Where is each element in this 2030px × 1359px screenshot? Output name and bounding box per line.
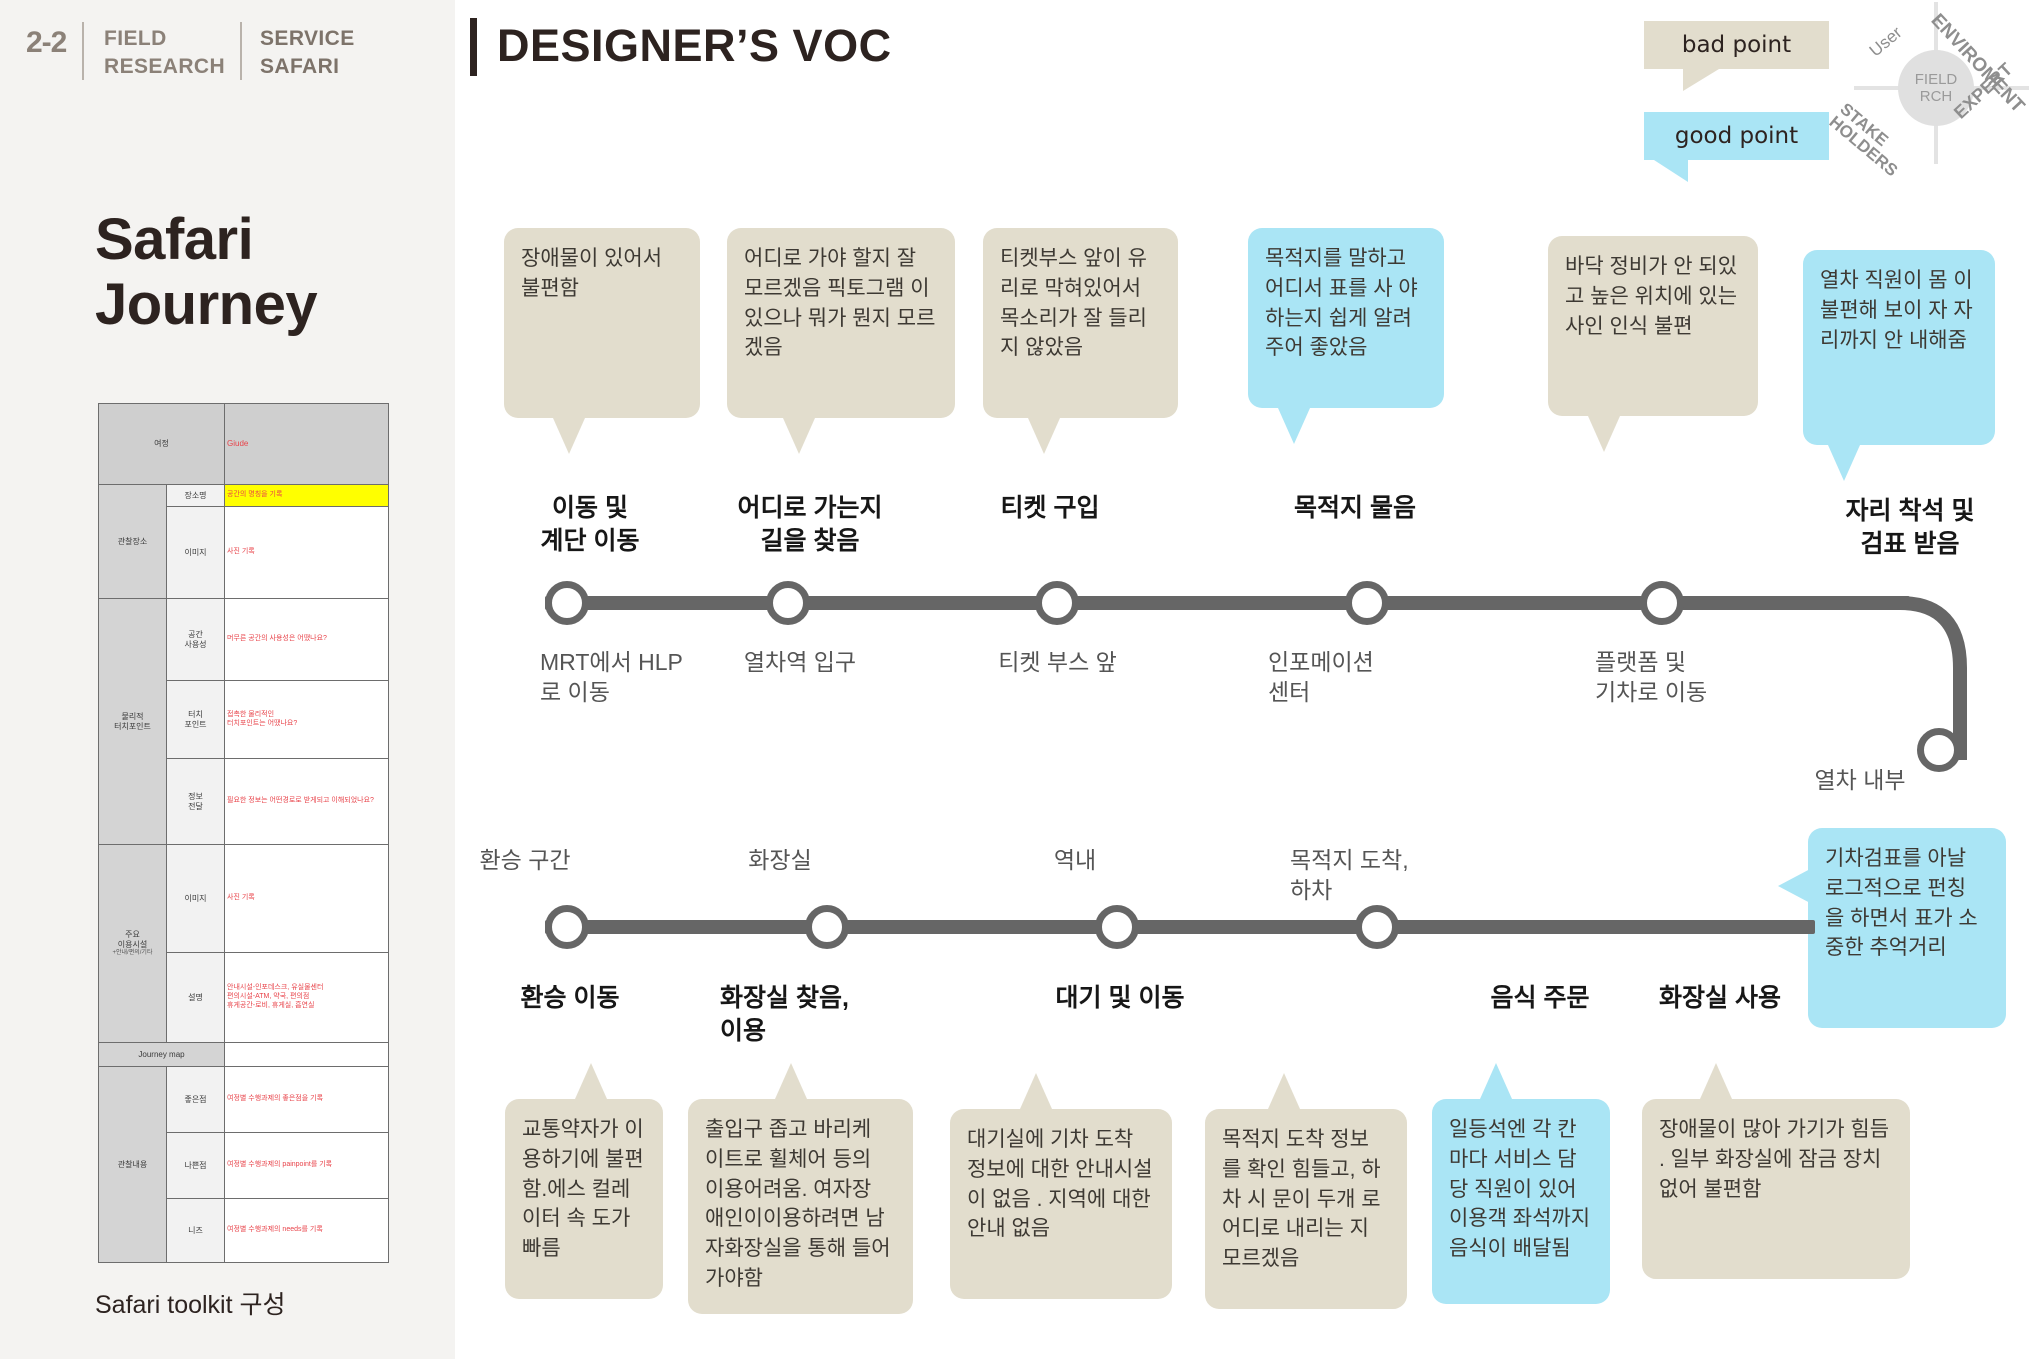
page-title: Safari Journey xyxy=(95,208,435,338)
journey-node-5[interactable] xyxy=(1640,581,1684,625)
table-guide-cell: 사진 기록 xyxy=(225,845,389,953)
voc-bubble-text: 기차검표를 아날 로그적으로 펀칭 을 하면서 표가 소중한 추억거리 xyxy=(1825,847,1978,959)
table-sub-cell: 설명 xyxy=(167,953,225,1043)
header-column-service-safari: SERVICE SAFARI xyxy=(260,25,355,80)
voc-bubble-row1-5: 바닥 정비가 안 되있 고 높은 위치에 있는 사인 인식 불편 xyxy=(1548,236,1758,416)
journey-map-label: Journey map xyxy=(99,1043,225,1067)
diagram-label-user: User xyxy=(1866,23,1906,61)
journey-node-row2-3[interactable] xyxy=(1095,905,1139,949)
voc-bubble-row2-3: 대기실에 기차 도착 정보에 대한 안내시설 이 없음 . 지역에 대한 안내 … xyxy=(950,1109,1172,1299)
table-header-guide: Giude xyxy=(225,404,389,485)
field-research-diagram: FIELD RCH User ENVIROMENT STAKE HOLDERS … xyxy=(1840,0,2030,165)
toolkit-caption: Safari toolkit 구성 xyxy=(95,1285,425,1321)
journey-node-3[interactable] xyxy=(1035,581,1079,625)
voc-bubble-row1-3: 티켓부스 앞이 유 리로 막혀있어서 목소리가 잘 들리 지 않았음 xyxy=(983,228,1178,418)
voc-bubble-row2-5-tail xyxy=(1480,1063,1512,1099)
journey-place-4: 인포메이션 센터 xyxy=(1268,648,1468,708)
table-group-cell: 주요 이용시설 +안내/편의/기타 xyxy=(99,845,167,1043)
table-guide-cell: 안내시설-인포데스크, 유실물센터 편의시설-ATM, 약국, 편의점 휴게공간… xyxy=(225,953,389,1043)
voc-bubble-row1-6: 열차 직원이 몸 이 불편해 보이 자 자리까지 안 내해줌 xyxy=(1803,250,1995,445)
voc-bubble-text: 일등석엔 각 칸 마다 서비스 담 당 직원이 있어 이용객 좌석까지 음식이 … xyxy=(1449,1118,1590,1260)
table-group-cell: 관찰내용 xyxy=(99,1067,167,1263)
table-guide-cell: 사진 기록 xyxy=(225,507,389,599)
journey-place-row2-3: 역내 xyxy=(985,846,1165,876)
table-sub-cell: 이미지 xyxy=(167,507,225,599)
journey-step-title-row2-2: 화장실 찾음, 이용 xyxy=(720,982,940,1047)
voc-bubble-row2-2-tail xyxy=(775,1063,807,1099)
table-sub-cell: 공간 사용성 xyxy=(167,599,225,681)
journey-place-row2-1: 환승 구간 xyxy=(410,846,640,876)
journey-place-6: 열차 내부 xyxy=(1760,766,1960,796)
journey-node-row2-4[interactable] xyxy=(1355,905,1399,949)
journey-node-row2-2[interactable] xyxy=(805,905,849,949)
journey-place-row2-4: 목적지 도착, 하차 xyxy=(1290,846,1510,906)
voc-bubble-row1-2-tail xyxy=(783,418,815,454)
journey-step-title-2: 어디로 가는지 길을 찾음 xyxy=(690,492,930,557)
table-guide-cell: 접촉한 물리적인 터치포인트는 어땠나요? xyxy=(225,681,389,759)
page-title-line1: Safari xyxy=(95,208,435,273)
table-header-row: 여정 Giude xyxy=(99,404,389,485)
table-sub-cell: 장소명 xyxy=(167,485,225,507)
table-sub-cell: 좋은점 xyxy=(167,1067,225,1133)
journey-step-title-row2-3: 대기 및 이동 xyxy=(1010,982,1230,1015)
table-row: 주요 이용시설 +안내/편의/기타 이미지 사진 기록 xyxy=(99,845,389,953)
table-sub-cell: 정보 전달 xyxy=(167,759,225,845)
voc-bubble-row2-6: 장애물이 많아 가기가 힘듬 . 일부 화장실에 잠금 장치 없어 불편함 xyxy=(1642,1099,1910,1279)
voc-bubble-text: 출입구 좁고 바리케 이트로 휠체어 등의 이용어려움. 여자장 애인이이용하려… xyxy=(705,1118,891,1290)
table-guide-cell: 여정별 수행과제의 painpoint를 기록 xyxy=(225,1133,389,1199)
table-sub-cell: 터치 포인트 xyxy=(167,681,225,759)
section-number: 2-2 xyxy=(26,26,66,60)
journey-step-title-3: 티켓 구입 xyxy=(955,492,1145,525)
legend-bad-point: bad point xyxy=(1644,21,1829,69)
journey-map-guide xyxy=(225,1043,389,1067)
journey-step-title-row2-1: 환승 이동 xyxy=(460,982,680,1015)
header-column-field-research: FIELD RESEARCH xyxy=(104,25,225,80)
journey-track-row2 xyxy=(545,920,1815,934)
diagram-center-line1: FIELD xyxy=(1915,71,1958,88)
table-guide-cell: 공간의 명칭을 기록 xyxy=(225,485,389,507)
voc-bubble-row1-6-tail xyxy=(1828,445,1860,481)
journey-place-3: 티켓 부스 앞 xyxy=(960,648,1155,678)
table-guide-cell: 머무른 공간의 사용성은 어땠나요? xyxy=(225,599,389,681)
journey-step-title-1: 이동 및 계단 이동 xyxy=(480,492,700,557)
voc-bubble-row1-1-tail xyxy=(553,418,585,454)
journey-node-4[interactable] xyxy=(1345,581,1389,625)
voc-bubble-text: 장애물이 많아 가기가 힘듬 . 일부 화장실에 잠금 장치 없어 불편함 xyxy=(1659,1118,1889,1201)
table-group-label: 주요 이용시설 xyxy=(118,930,147,949)
voc-bubble-text: 바닥 정비가 안 되있 고 높은 위치에 있는 사인 인식 불편 xyxy=(1565,255,1737,338)
left-sidebar: 2-2 FIELD RESEARCH SERVICE SAFARI Safari… xyxy=(0,0,455,1359)
table-sub-cell: 이미지 xyxy=(167,845,225,953)
table-guide-cell: 여정별 수행과제의 좋은점을 기록 xyxy=(225,1067,389,1133)
voc-bubble-row2-2: 출입구 좁고 바리케 이트로 휠체어 등의 이용어려움. 여자장 애인이이용하려… xyxy=(688,1099,913,1314)
journey-place-2: 열차역 입구 xyxy=(700,648,900,678)
journey-step-title-row2-6: 화장실 사용 xyxy=(1610,982,1830,1015)
table-row: 물리적 터치포인트 공간 사용성 머무른 공간의 사용성은 어땠나요? xyxy=(99,599,389,681)
journey-node-1[interactable] xyxy=(545,581,589,625)
table-row: 관찰내용 좋은점 여정별 수행과제의 좋은점을 기록 xyxy=(99,1067,389,1133)
journey-place-5: 플랫폼 및 기차로 이동 xyxy=(1595,648,1795,708)
voc-bubble-text: 열차 직원이 몸 이 불편해 보이 자 자리까지 안 내해줌 xyxy=(1820,269,1973,352)
journey-node-row2-1[interactable] xyxy=(545,905,589,949)
safari-toolkit-table: 여정 Giude 관찰장소 장소명 공간의 명칭을 기록 이미지 사진 기록 물… xyxy=(98,403,389,1263)
table-header-journey: 여정 xyxy=(99,404,225,485)
header-service-line2: SAFARI xyxy=(260,53,355,81)
diagram-center-line2: RCH xyxy=(1920,88,1953,105)
voc-bubble-row2-4-tail xyxy=(1268,1073,1300,1109)
voc-bubble-row2-5: 일등석엔 각 칸 마다 서비스 담 당 직원이 있어 이용객 좌석까지 음식이 … xyxy=(1432,1099,1610,1304)
voc-bubble-train-interior: 기차검표를 아날 로그적으로 펀칭 을 하면서 표가 소중한 추억거리 xyxy=(1808,828,2006,1028)
legend-good-point: good point xyxy=(1644,112,1829,160)
journey-track-row1 xyxy=(545,596,1910,610)
journey-place-1: MRT에서 HLP 로 이동 xyxy=(480,648,710,708)
voc-bubble-text: 교통약자가 이용하기에 불편함.에스 컬레이터 속 도가 빠름 xyxy=(522,1118,644,1260)
table-row-journey-map: Journey map xyxy=(99,1043,389,1067)
journey-step-title-6: 자리 착석 및 검표 받음 xyxy=(1800,495,2020,560)
table-group-sublabel: +안내/편의/기타 xyxy=(101,950,164,958)
voc-bubble-row2-6-tail xyxy=(1700,1063,1732,1099)
voc-bubble-text: 대기실에 기차 도착 정보에 대한 안내시설 이 없음 . 지역에 대한 안내 … xyxy=(967,1128,1153,1240)
header-service-line1: SERVICE xyxy=(260,25,355,53)
table-sub-cell: 니즈 xyxy=(167,1199,225,1263)
legend-bad-point-tail xyxy=(1683,69,1719,91)
voc-bubble-row1-4-tail xyxy=(1278,408,1310,444)
legend-bad-point-label: bad point xyxy=(1682,32,1791,58)
header-field-line1: FIELD xyxy=(104,25,225,53)
header-divider-2 xyxy=(240,22,242,80)
voc-bubble-row2-1: 교통약자가 이용하기에 불편함.에스 컬레이터 속 도가 빠름 xyxy=(505,1099,663,1299)
header-divider-1 xyxy=(82,22,84,80)
voc-bubble-text: 어디로 가야 할지 잘 모르겠음 픽토그램 이 있으나 뭐가 뭔지 모르겠음 xyxy=(744,247,935,359)
vertical-rule xyxy=(455,0,460,1359)
table-guide-cell: 여정별 수행과제의 needs를 기록 xyxy=(225,1199,389,1263)
table-guide-cell: 필요한 정보는 어떤경로로 받게되고 이해되었나요? xyxy=(225,759,389,845)
title-divider xyxy=(470,18,477,76)
journey-step-title-4: 목적지 물음 xyxy=(1255,492,1455,525)
voc-bubble-row2-3-tail xyxy=(1020,1073,1052,1109)
header-field-line2: RESEARCH xyxy=(104,53,225,81)
voc-bubble-train-interior-tail xyxy=(1778,868,1812,904)
diagram-label-stakeholders: STAKE HOLDERS xyxy=(1826,100,1912,179)
voc-bubble-row1-4: 목적지를 말하고 어디서 표를 사 야 하는지 쉽게 알려주어 좋았음 xyxy=(1248,228,1444,408)
legend-good-point-tail xyxy=(1654,160,1688,182)
table-sub-cell: 나쁜점 xyxy=(167,1133,225,1199)
voc-bubble-text: 티켓부스 앞이 유 리로 막혀있어서 목소리가 잘 들리 지 않았음 xyxy=(1000,247,1147,359)
voc-bubble-text: 장애물이 있어서 불편함 xyxy=(521,247,662,300)
slide-title: DESIGNER’S VOC xyxy=(497,20,892,72)
voc-bubble-row1-5-tail xyxy=(1588,416,1620,452)
legend-good-point-label: good point xyxy=(1675,123,1798,149)
voc-bubble-text: 목적지 도착 정보 를 확인 힘들고, 하차 시 문이 두개 로 어디로 내리는… xyxy=(1222,1128,1381,1270)
section-header: 2-2 FIELD RESEARCH SERVICE SAFARI xyxy=(0,0,455,105)
page-title-line2: Journey xyxy=(95,273,435,338)
voc-bubble-row1-1: 장애물이 있어서 불편함 xyxy=(504,228,700,418)
voc-bubble-row2-4: 목적지 도착 정보 를 확인 힘들고, 하차 시 문이 두개 로 어디로 내리는… xyxy=(1205,1109,1407,1309)
journey-node-2[interactable] xyxy=(766,581,810,625)
table-group-cell: 물리적 터치포인트 xyxy=(99,599,167,845)
voc-bubble-text: 목적지를 말하고 어디서 표를 사 야 하는지 쉽게 알려주어 좋았음 xyxy=(1265,247,1418,359)
voc-bubble-row1-3-tail xyxy=(1028,418,1060,454)
table-row: 관찰장소 장소명 공간의 명칭을 기록 xyxy=(99,485,389,507)
voc-bubble-row2-1-tail xyxy=(575,1063,607,1099)
table-group-cell: 관찰장소 xyxy=(99,485,167,599)
voc-bubble-row1-2: 어디로 가야 할지 잘 모르겠음 픽토그램 이 있으나 뭐가 뭔지 모르겠음 xyxy=(727,228,955,418)
journey-place-row2-2: 화장실 xyxy=(680,846,880,876)
